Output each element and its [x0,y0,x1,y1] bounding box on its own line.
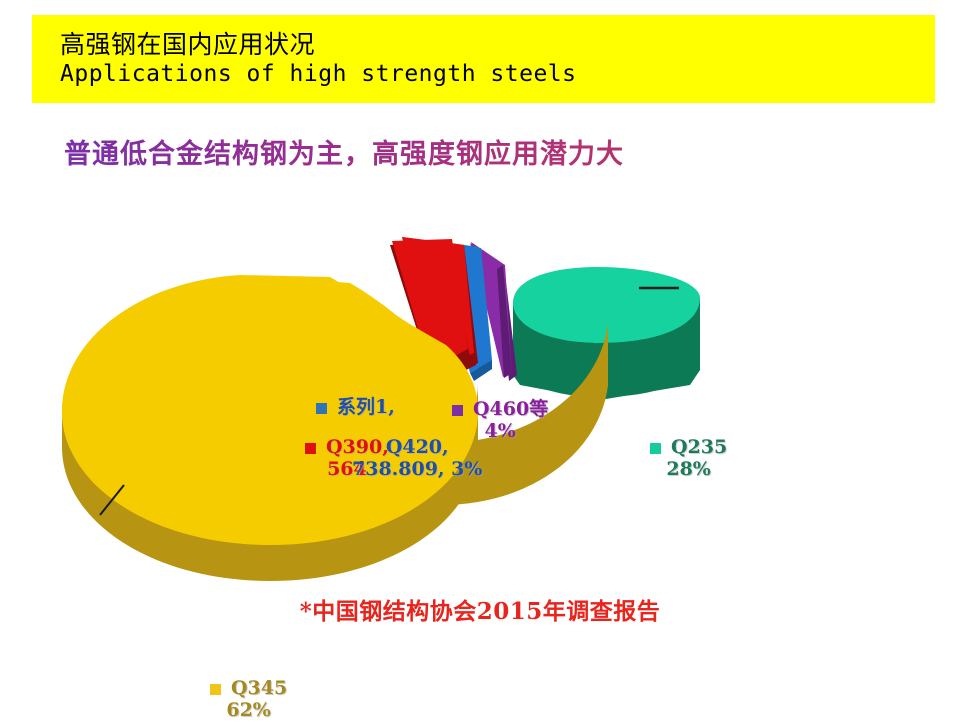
pie-label-q235-value: 28% [650,459,727,481]
pie-label-q420-text: Q420, [386,436,449,458]
pie-label-series1[interactable]: 系列1, [316,397,395,419]
pie-label-q460[interactable]: Q460等 4% [452,399,548,443]
pie-chart-graphic [0,185,960,605]
pie-label-q345-value: 62% [210,700,287,722]
pie-label-q460-text: Q460等 [473,398,548,420]
pie-chart: 系列1, Q390, 564 Q420, 738.809, 3% Q460等 4… [0,185,960,605]
legend-swatch-q460 [452,405,463,416]
legend-swatch-q390 [305,443,316,454]
pie-label-q420[interactable]: Q420, 738.809, 3% [352,437,482,481]
pie-label-q345-text: Q345 [231,677,287,699]
pie-label-q420-value: 738.809, 3% [352,459,482,481]
pie-label-q345[interactable]: Q345 62% [210,678,287,722]
slide-subtitle: 普通低合金结构钢为主，高强度钢应用潜力大 [64,132,624,171]
pie-label-series1-text: 系列1, [337,396,395,418]
slide-title-english: Applications of high strength steels [60,60,935,89]
pie-label-q235[interactable]: Q235 28% [650,437,727,481]
slide-title-chinese: 高强钢在国内应用状况 [60,29,935,60]
slide-title-bar: 高强钢在国内应用状况 Applications of high strength… [32,15,935,103]
legend-swatch-q235 [650,443,661,454]
legend-swatch-q345 [210,684,221,695]
pie-label-q460-value: 4% [452,421,548,443]
source-footnote: *中国钢结构协会2015年调查报告 [0,592,960,626]
legend-swatch-series1 [316,403,327,414]
pie-label-q235-text: Q235 [671,436,727,458]
